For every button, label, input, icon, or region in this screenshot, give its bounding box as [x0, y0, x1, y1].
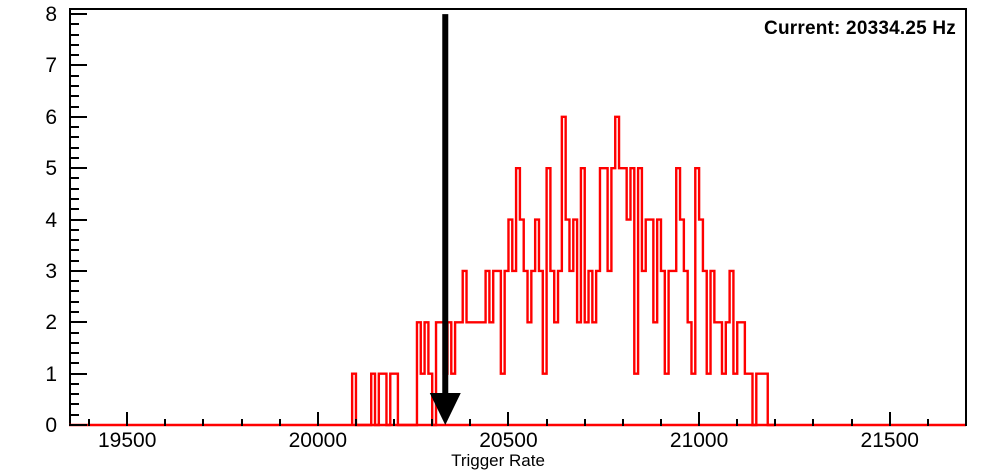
y-axis-tick-label: 5: [1, 158, 57, 179]
y-tick-minor: [69, 352, 79, 354]
x-tick-minor: [851, 419, 853, 426]
y-tick-major: [69, 116, 87, 118]
y-tick-minor: [69, 393, 79, 395]
x-tick-minor: [202, 419, 204, 426]
y-tick-minor: [69, 311, 79, 313]
y-axis-tick-label: 7: [1, 55, 57, 76]
x-tick-minor: [660, 419, 662, 426]
y-axis-tick-label: 6: [1, 107, 57, 128]
y-axis-tick-label: 1: [1, 364, 57, 385]
y-tick-major: [69, 219, 87, 221]
current-value-label: Current: 20334.25 Hz: [764, 18, 956, 40]
x-tick-minor: [546, 419, 548, 426]
y-tick-minor: [69, 249, 79, 251]
y-tick-minor: [69, 188, 79, 190]
y-tick-minor: [69, 157, 79, 159]
x-axis-tick-label: 19500: [57, 430, 197, 451]
x-axis-tick-label: 20000: [248, 430, 388, 451]
x-tick-minor: [965, 419, 967, 426]
y-tick-minor: [69, 95, 79, 97]
y-tick-minor: [69, 75, 79, 77]
y-tick-minor: [69, 403, 79, 405]
y-axis-tick-label: 4: [1, 210, 57, 231]
y-tick-major: [69, 13, 87, 15]
x-tick-minor: [393, 419, 395, 426]
y-tick-minor: [69, 239, 79, 241]
y-tick-major: [69, 321, 87, 323]
histogram-plot-canvas: 012345678 1950020000205002100021500 Curr…: [0, 0, 996, 472]
y-tick-minor: [69, 126, 79, 128]
x-axis-tick-label: 20500: [438, 430, 578, 451]
x-tick-minor: [622, 419, 624, 426]
x-tick-minor: [355, 419, 357, 426]
x-tick-minor: [812, 419, 814, 426]
y-tick-minor: [69, 136, 79, 138]
x-tick-minor: [164, 419, 166, 426]
y-tick-minor: [69, 106, 79, 108]
y-axis-tick-label: 2: [1, 312, 57, 333]
y-tick-minor: [69, 342, 79, 344]
y-tick-minor: [69, 23, 79, 25]
y-tick-minor: [69, 44, 79, 46]
x-tick-minor: [88, 419, 90, 426]
y-tick-minor: [69, 229, 79, 231]
y-tick-minor: [69, 301, 79, 303]
y-tick-major: [69, 373, 87, 375]
x-tick-major: [889, 412, 891, 426]
x-tick-minor: [774, 419, 776, 426]
x-tick-major: [126, 412, 128, 426]
x-axis-title: Trigger Rate: [0, 452, 996, 469]
x-tick-minor: [736, 419, 738, 426]
x-tick-major: [698, 412, 700, 426]
x-tick-minor: [927, 419, 929, 426]
y-tick-minor: [69, 147, 79, 149]
x-tick-major: [507, 412, 509, 426]
y-tick-minor: [69, 290, 79, 292]
y-tick-minor: [69, 177, 79, 179]
y-tick-minor: [69, 362, 79, 364]
y-tick-minor: [69, 383, 79, 385]
y-tick-minor: [69, 260, 79, 262]
x-tick-minor: [241, 419, 243, 426]
x-tick-minor: [469, 419, 471, 426]
y-tick-minor: [69, 54, 79, 56]
y-tick-minor: [69, 208, 79, 210]
y-tick-minor: [69, 332, 79, 334]
y-axis-tick-label: 3: [1, 261, 57, 282]
x-tick-minor: [584, 419, 586, 426]
y-tick-major: [69, 270, 87, 272]
x-tick-minor: [431, 419, 433, 426]
y-tick-minor: [69, 34, 79, 36]
y-tick-major: [69, 424, 87, 426]
y-tick-major: [69, 64, 87, 66]
y-tick-minor: [69, 280, 79, 282]
y-axis-tick-label: 8: [1, 4, 57, 25]
y-tick-major: [69, 167, 87, 169]
x-axis-tick-label: 21000: [629, 430, 769, 451]
plot-frame: [69, 8, 967, 426]
y-tick-minor: [69, 414, 79, 416]
x-tick-minor: [279, 419, 281, 426]
y-tick-minor: [69, 198, 79, 200]
y-axis-tick-label: 0: [1, 415, 57, 436]
x-tick-major: [317, 412, 319, 426]
x-axis-tick-label: 21500: [820, 430, 960, 451]
y-tick-minor: [69, 85, 79, 87]
